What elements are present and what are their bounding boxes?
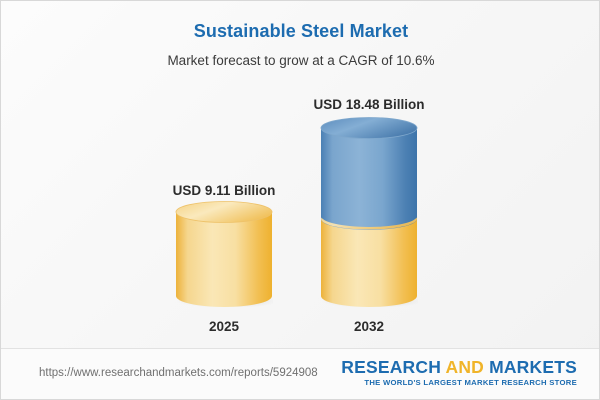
bar-value-label-2025: USD 9.11 Billion	[154, 183, 294, 198]
logo-tagline: THE WORLD'S LARGEST MARKET RESEARCH STOR…	[341, 377, 577, 388]
market-infographic-card: Sustainable Steel Market Market forecast…	[0, 0, 600, 400]
bar-value-label-2032: USD 18.48 Billion	[299, 97, 439, 112]
cylinder-bar-2025[interactable]	[175, 201, 273, 307]
chart-plot-area: USD 9.11 Billion	[1, 1, 600, 349]
logo-word-research: RESEARCH	[341, 357, 441, 377]
logo-word-and: AND	[445, 357, 484, 377]
cylinder-2032-graphic	[320, 117, 418, 307]
footer-bar: https://www.researchandmarkets.com/repor…	[1, 348, 599, 399]
bar-category-label-2025: 2025	[154, 319, 294, 334]
cylinder-2025-graphic	[175, 201, 273, 307]
research-and-markets-logo[interactable]: RESEARCH AND MARKETS THE WORLD'S LARGEST…	[341, 357, 577, 388]
bar-category-label-2032: 2032	[299, 319, 439, 334]
report-url[interactable]: https://www.researchandmarkets.com/repor…	[39, 367, 318, 379]
logo-wordmark: RESEARCH AND MARKETS	[341, 357, 577, 377]
logo-word-markets: MARKETS	[489, 357, 577, 377]
cylinder-bar-2032[interactable]	[320, 117, 418, 307]
